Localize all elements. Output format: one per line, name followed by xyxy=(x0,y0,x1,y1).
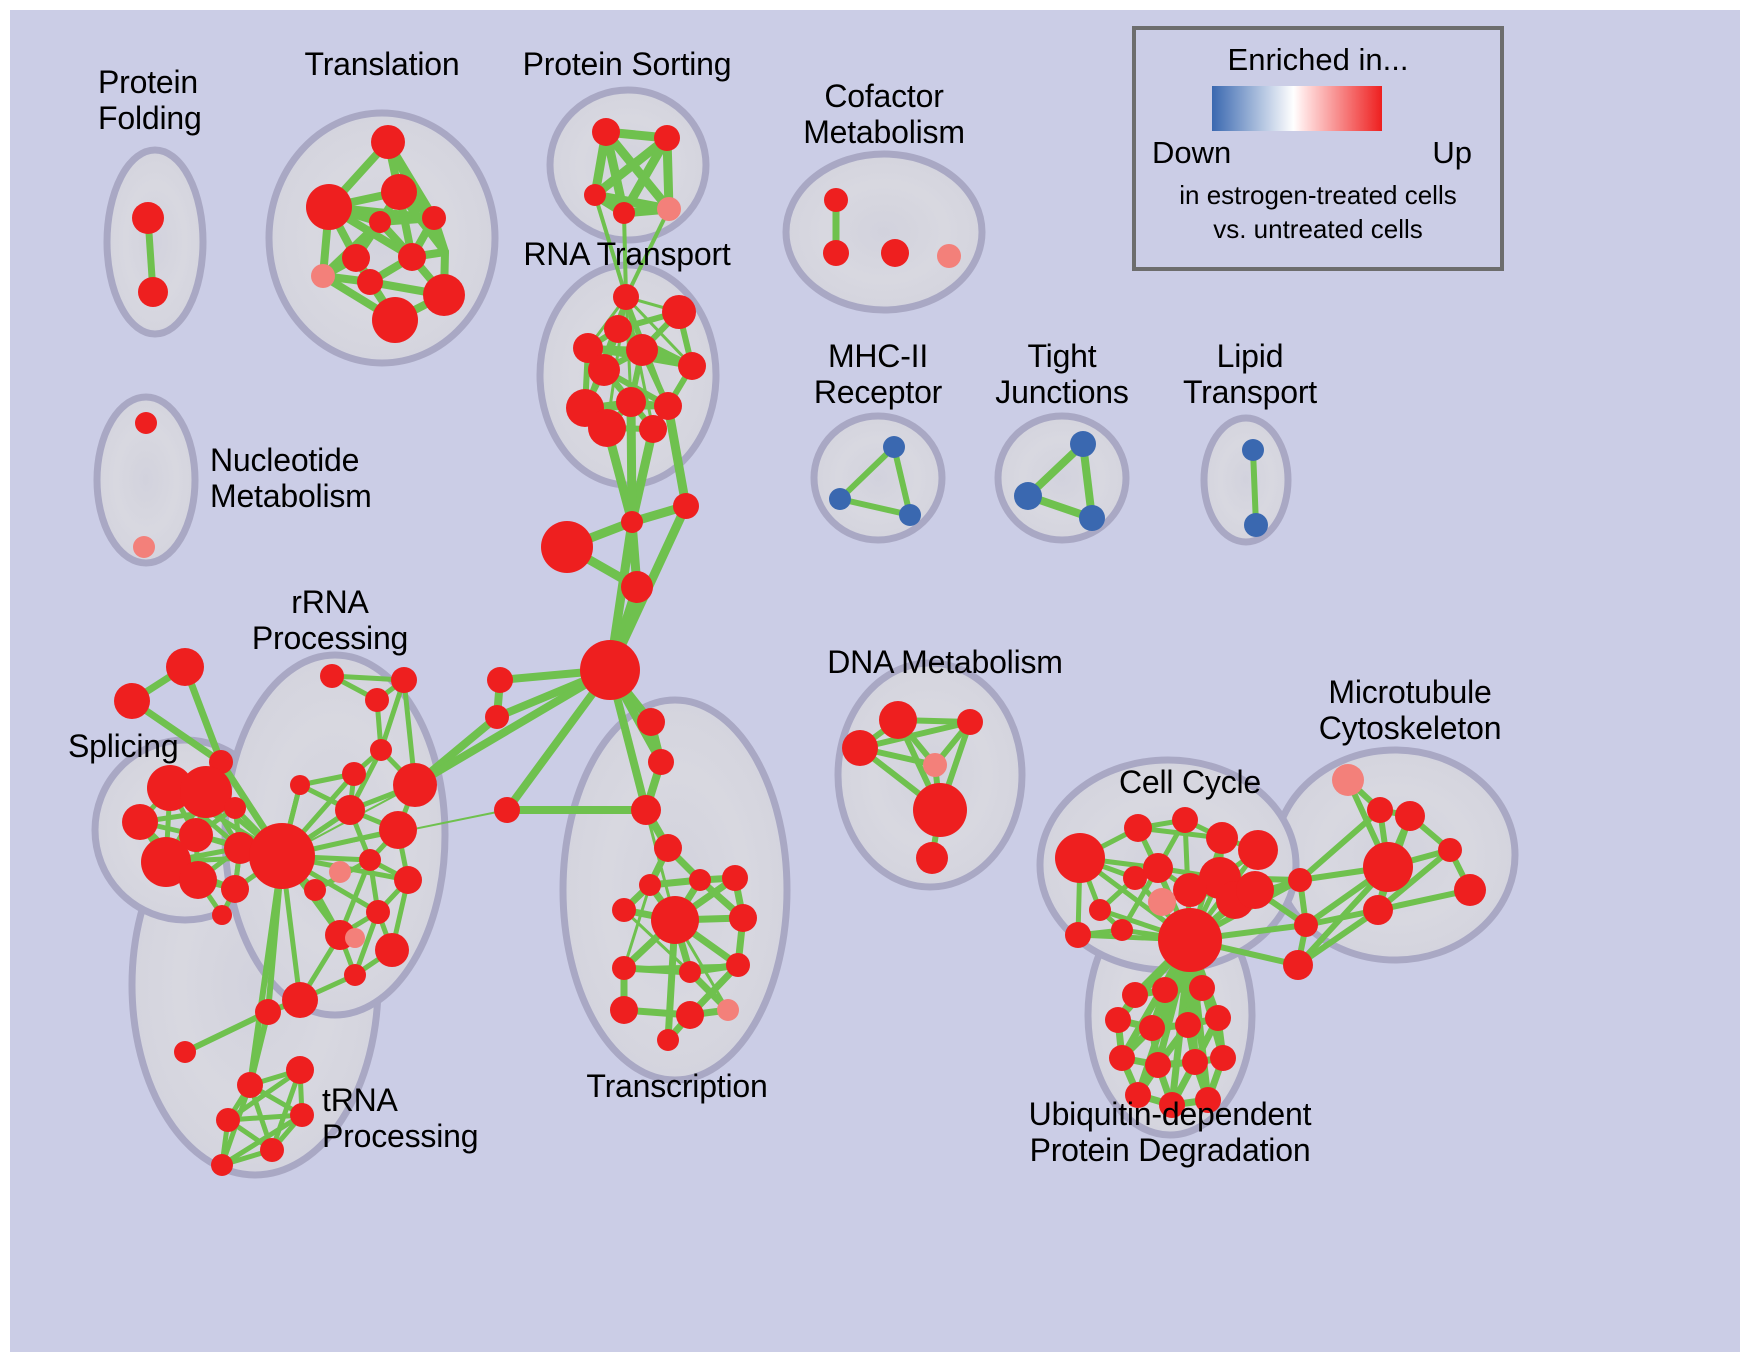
node xyxy=(329,861,351,883)
node xyxy=(1238,830,1278,870)
node xyxy=(320,664,344,688)
legend-color-gradient-bar xyxy=(1212,86,1382,131)
node xyxy=(899,504,921,526)
node xyxy=(1111,919,1133,941)
node xyxy=(1206,822,1238,854)
node xyxy=(1109,1045,1135,1071)
cluster-label-ubiquitin-protein-degradation: Ubiquitin-dependent Protein Degradation xyxy=(1029,1096,1312,1168)
cluster-label-transcription: Transcription xyxy=(586,1068,767,1104)
node xyxy=(588,354,620,386)
legend-up-label: Up xyxy=(1432,135,1472,171)
node xyxy=(883,436,905,458)
node xyxy=(648,749,674,775)
node xyxy=(580,640,640,700)
node xyxy=(662,295,696,329)
node xyxy=(290,775,310,795)
node xyxy=(249,823,315,889)
cluster-label-cell-cycle: Cell Cycle xyxy=(1119,764,1261,800)
node xyxy=(657,197,681,221)
node xyxy=(487,667,513,693)
node xyxy=(729,904,757,932)
node xyxy=(726,953,750,977)
node xyxy=(1288,868,1312,892)
node xyxy=(224,797,246,819)
node xyxy=(1145,1052,1171,1078)
legend-title: Enriched in... xyxy=(1136,42,1500,78)
node xyxy=(290,1103,314,1127)
cluster-label-protein-sorting: Protein Sorting xyxy=(523,46,732,82)
node xyxy=(1210,1045,1236,1071)
node xyxy=(379,811,417,849)
node xyxy=(842,730,878,766)
node xyxy=(626,334,658,366)
node xyxy=(621,571,653,603)
node xyxy=(1236,871,1274,909)
node xyxy=(621,511,643,533)
node xyxy=(676,1001,704,1029)
node xyxy=(237,1072,263,1098)
hull-tight-junctions xyxy=(998,416,1126,540)
node xyxy=(394,866,422,894)
node xyxy=(166,648,204,686)
hull-transcription xyxy=(563,700,787,1080)
node xyxy=(584,184,606,206)
node xyxy=(612,956,636,980)
node xyxy=(1367,797,1393,823)
node xyxy=(610,996,638,1024)
node xyxy=(138,277,168,307)
node xyxy=(829,488,851,510)
node xyxy=(211,1154,233,1176)
cluster-label-trna-processing: tRNA Processing xyxy=(322,1082,478,1154)
node xyxy=(613,202,635,224)
node xyxy=(366,900,390,924)
cluster-label-translation: Translation xyxy=(305,46,460,82)
cluster-label-tight-junctions: Tight Junctions xyxy=(995,338,1128,410)
node xyxy=(1438,838,1462,862)
node xyxy=(654,125,680,151)
node xyxy=(260,1138,284,1162)
node xyxy=(212,905,232,925)
legend-subtitle-line2: vs. untreated cells xyxy=(1136,214,1500,245)
cluster-label-cofactor-metabolism: Cofactor Metabolism xyxy=(803,78,965,150)
node xyxy=(678,352,706,380)
node xyxy=(604,315,632,343)
node xyxy=(304,879,326,901)
node xyxy=(541,521,593,573)
node xyxy=(654,834,682,862)
node xyxy=(916,842,948,874)
node xyxy=(913,783,967,837)
node xyxy=(381,174,417,210)
node xyxy=(221,875,249,903)
node xyxy=(344,964,366,986)
network-figure: Protein Folding Translation Protein Sort… xyxy=(10,10,1740,1352)
node xyxy=(179,861,217,899)
cluster-label-splicing: Splicing xyxy=(68,728,178,764)
node xyxy=(881,239,909,267)
node xyxy=(1065,922,1091,948)
node xyxy=(423,274,465,316)
node xyxy=(588,409,626,447)
node xyxy=(286,1056,314,1084)
node xyxy=(216,1108,240,1132)
node xyxy=(879,701,917,739)
node xyxy=(1205,1005,1231,1031)
node xyxy=(369,211,391,233)
node xyxy=(1175,1012,1201,1038)
legend-subtitle-line1: in estrogen-treated cells xyxy=(1136,180,1500,211)
legend-box: Enriched in... Down Up in estrogen-treat… xyxy=(1132,26,1504,271)
node xyxy=(132,202,164,234)
cluster-label-lipid-transport: Lipid Transport xyxy=(1183,338,1317,410)
node xyxy=(1173,873,1207,907)
node xyxy=(722,865,748,891)
node xyxy=(370,739,392,761)
node xyxy=(1182,1049,1208,1075)
cluster-label-mhc-ii-receptor: MHC-II Receptor xyxy=(814,338,942,410)
node xyxy=(1148,888,1176,916)
cluster-label-protein-folding: Protein Folding xyxy=(98,64,202,136)
node xyxy=(1242,439,1264,461)
node xyxy=(937,244,961,268)
cluster-label-microtubule-cytoskeleton: Microtubule Cytoskeleton xyxy=(1319,674,1502,746)
node xyxy=(679,961,701,983)
cluster-label-nucleotide-metabolism: Nucleotide Metabolism xyxy=(210,442,372,514)
node xyxy=(1124,814,1152,842)
node xyxy=(1105,1007,1131,1033)
node xyxy=(657,1029,679,1051)
node xyxy=(1454,874,1486,906)
node xyxy=(122,804,158,840)
node xyxy=(1363,842,1413,892)
node xyxy=(612,898,636,922)
node xyxy=(393,763,437,807)
node xyxy=(1070,431,1096,457)
legend-down-label: Down xyxy=(1152,135,1231,171)
hull-cofactor xyxy=(786,154,982,310)
node xyxy=(371,125,405,159)
node xyxy=(1139,1015,1165,1041)
node xyxy=(135,412,157,434)
node xyxy=(673,493,699,519)
node xyxy=(1055,833,1105,883)
node xyxy=(372,297,418,343)
node xyxy=(357,269,383,295)
node xyxy=(485,705,509,729)
node xyxy=(306,184,352,230)
node xyxy=(1332,764,1364,796)
node xyxy=(639,415,667,443)
node xyxy=(1089,899,1111,921)
node xyxy=(133,536,155,558)
node xyxy=(365,688,389,712)
node xyxy=(1244,513,1268,537)
node xyxy=(180,766,232,818)
node xyxy=(1014,482,1042,510)
node xyxy=(689,869,711,891)
node xyxy=(823,240,849,266)
node xyxy=(255,999,281,1025)
node xyxy=(957,709,983,735)
node xyxy=(1172,807,1198,833)
cluster-label-dna-metabolism: DNA Metabolism xyxy=(827,644,1063,680)
node xyxy=(1122,982,1148,1008)
node xyxy=(359,849,381,871)
node xyxy=(1152,977,1178,1003)
node xyxy=(923,753,947,777)
node xyxy=(1158,908,1222,972)
node xyxy=(637,708,665,736)
node xyxy=(342,244,370,272)
node xyxy=(654,392,682,420)
node xyxy=(651,896,699,944)
node xyxy=(1294,913,1318,937)
node xyxy=(335,795,365,825)
node xyxy=(639,874,661,896)
node xyxy=(342,762,366,786)
node xyxy=(1395,801,1425,831)
cluster-label-rna-transport: RNA Transport xyxy=(523,236,730,272)
node xyxy=(1363,895,1393,925)
node xyxy=(174,1041,196,1063)
node xyxy=(282,982,318,1018)
node xyxy=(1283,950,1313,980)
node xyxy=(422,206,446,230)
node xyxy=(616,387,646,417)
node xyxy=(613,284,639,310)
node xyxy=(631,795,661,825)
node xyxy=(1143,853,1173,883)
node xyxy=(398,243,426,271)
node xyxy=(114,683,150,719)
node xyxy=(345,928,365,948)
node xyxy=(717,999,739,1021)
node xyxy=(1189,975,1215,1001)
node xyxy=(1079,505,1105,531)
node xyxy=(311,264,335,288)
cluster-label-rrna-processing: rRNA Processing xyxy=(252,584,408,656)
node xyxy=(494,797,520,823)
node xyxy=(824,188,848,212)
hull-mhc xyxy=(814,416,942,540)
node xyxy=(391,667,417,693)
node xyxy=(592,118,620,146)
node xyxy=(375,933,409,967)
